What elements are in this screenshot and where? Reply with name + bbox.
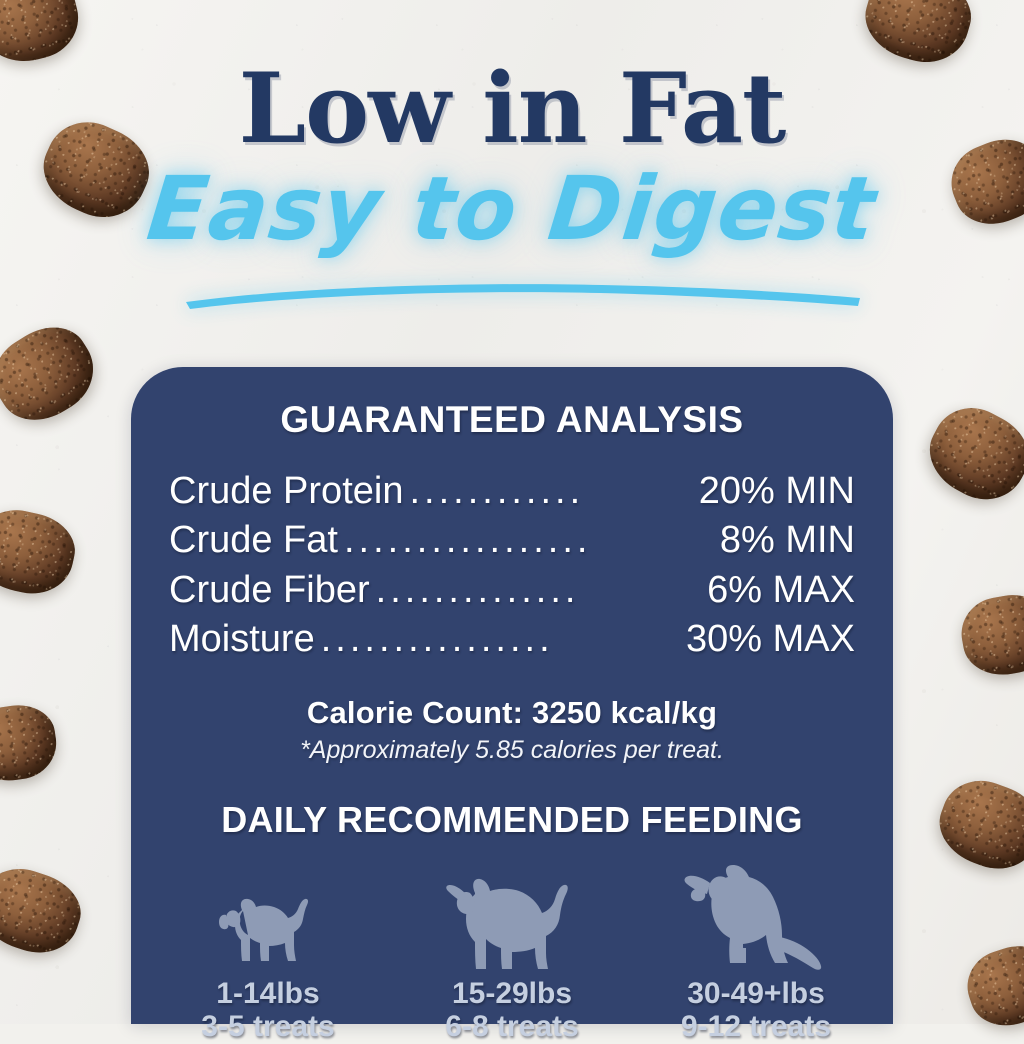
- small-dog-icon: [212, 863, 324, 971]
- analysis-label: Crude Protein: [169, 467, 403, 516]
- feeding-weight: 15-29lbs: [445, 977, 578, 1011]
- analysis-row: Crude Protein ............ 20% MIN: [169, 467, 855, 516]
- medium-dog-icon: [444, 863, 580, 971]
- analysis-value: 20% MIN: [699, 467, 855, 516]
- feeding-label: 30-49+lbs 9-12 treats: [681, 977, 831, 1044]
- daily-feeding-title: DAILY RECOMMENDED FEEDING: [131, 799, 893, 841]
- calorie-count: Calorie Count: 3250 kcal/kg: [131, 695, 893, 731]
- analysis-label: Crude Fiber: [169, 566, 370, 615]
- nutrition-panel: GUARANTEED ANALYSIS Crude Protein ......…: [131, 367, 893, 1024]
- feeding-weight: 30-49+lbs: [681, 977, 831, 1011]
- analysis-value: 6% MAX: [707, 566, 855, 615]
- headline-script-wrap: Easy to Digest: [0, 165, 1024, 253]
- headline-primary: Low in Fat: [0, 52, 1024, 165]
- feeding-column-large: 30-49+lbs 9-12 treats: [651, 863, 861, 1044]
- large-dog-icon: [676, 863, 836, 971]
- analysis-row: Crude Fiber .............. 6% MAX: [169, 566, 855, 615]
- dot-leader: ................: [321, 615, 680, 664]
- analysis-label: Moisture: [169, 615, 315, 664]
- dot-leader: ............: [409, 467, 692, 516]
- feeding-chart: 1-14lbs 3-5 treats 15-29lbs 6-8 treats: [131, 863, 893, 1044]
- analysis-value: 8% MIN: [720, 516, 855, 565]
- dot-leader: ..............: [376, 566, 702, 615]
- feeding-column-medium: 15-29lbs 6-8 treats: [407, 863, 617, 1044]
- analysis-value: 30% MAX: [686, 615, 855, 664]
- feeding-treats: 3-5 treats: [201, 1010, 334, 1044]
- feeding-treats: 6-8 treats: [445, 1010, 578, 1044]
- brush-underline-icon: [182, 278, 864, 310]
- analysis-label: Crude Fat: [169, 516, 338, 565]
- analysis-row: Moisture ................ 30% MAX: [169, 615, 855, 664]
- analysis-row: Crude Fat ................. 8% MIN: [169, 516, 855, 565]
- feeding-column-small: 1-14lbs 3-5 treats: [163, 863, 373, 1044]
- feeding-treats: 9-12 treats: [681, 1010, 831, 1044]
- feeding-label: 1-14lbs 3-5 treats: [201, 977, 334, 1044]
- feeding-weight: 1-14lbs: [201, 977, 334, 1011]
- headline-script: Easy to Digest: [144, 165, 881, 253]
- guaranteed-analysis-title: GUARANTEED ANALYSIS: [131, 399, 893, 441]
- dot-leader: .................: [344, 516, 714, 565]
- analysis-list: Crude Protein ............ 20% MIN Crude…: [131, 467, 893, 665]
- calorie-note: *Approximately 5.85 calories per treat.: [131, 736, 893, 765]
- feeding-label: 15-29lbs 6-8 treats: [445, 977, 578, 1044]
